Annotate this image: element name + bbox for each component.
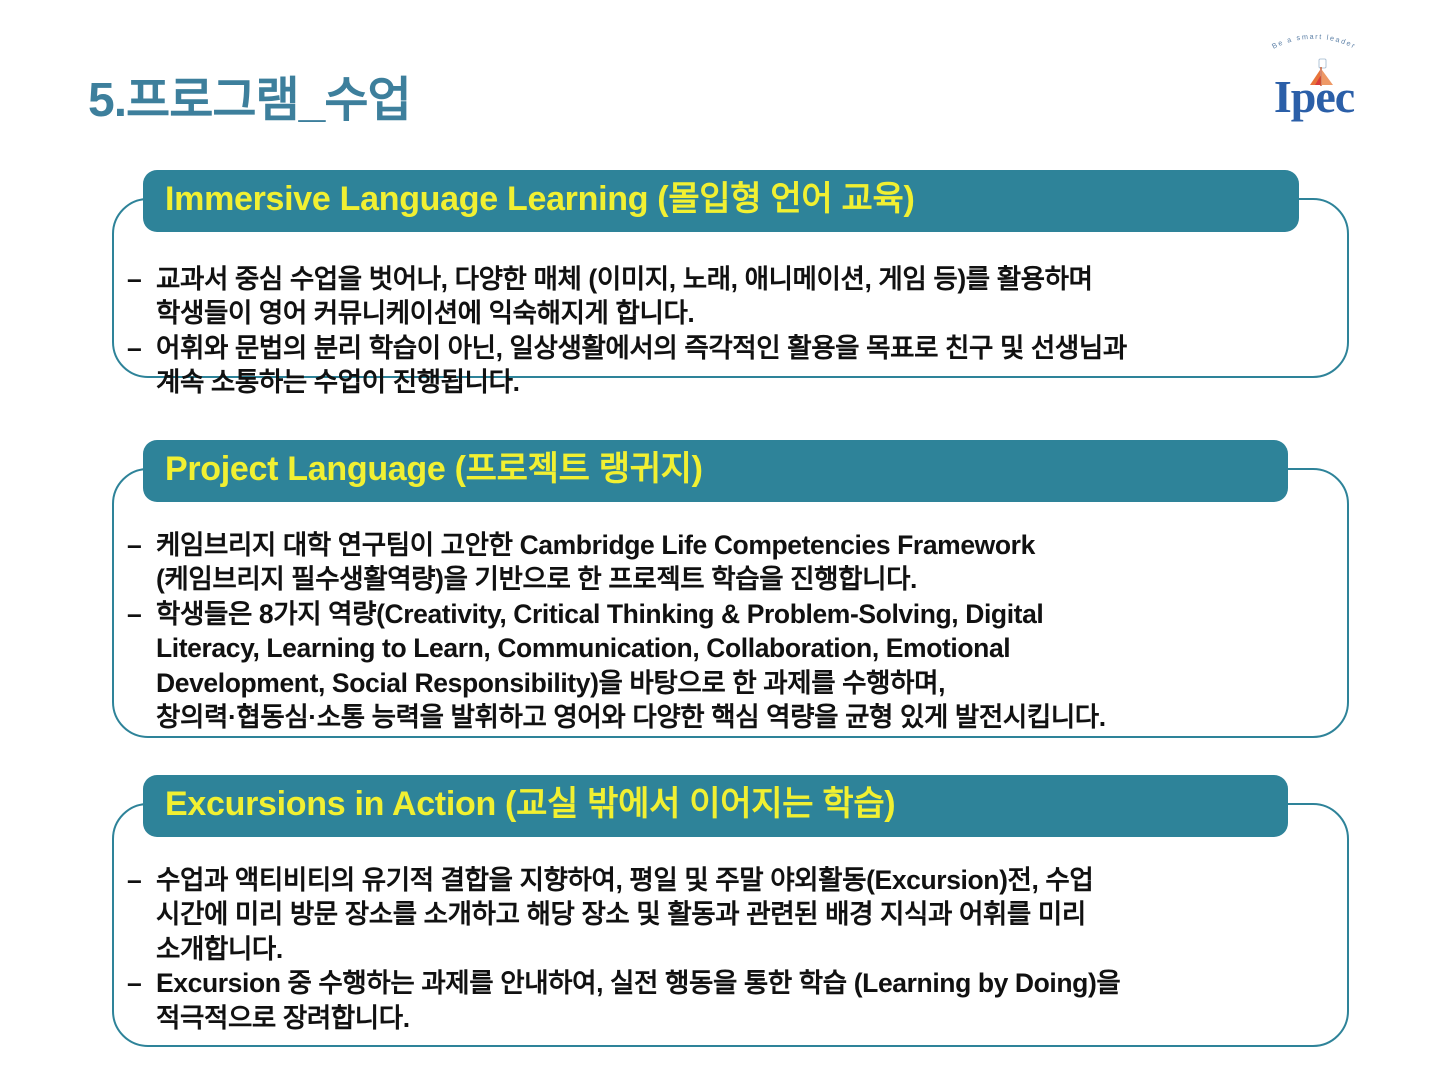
section-header-pill: Immersive Language Learning (몰입형 언어 교육): [143, 170, 1299, 232]
section-header-title: Immersive Language Learning (몰입형 언어 교육): [165, 180, 915, 219]
bullet-dash-icon: –: [114, 863, 156, 897]
list-item: – 학생들은 8가지 역량(Creativity, Critical Think…: [114, 597, 1321, 735]
bullet-dash-icon: –: [114, 262, 156, 296]
list-item: – 수업과 액티비티의 유기적 결합을 지향하여, 평일 및 주말 야외활동(E…: [114, 863, 1321, 966]
list-item: – Excursion 중 수행하는 과제를 안내하여, 실전 행동을 통한 학…: [114, 966, 1321, 1035]
section-header-pill: Project Language (프로젝트 랭귀지): [143, 440, 1288, 502]
page-title: 5.프로그램_수업: [88, 76, 411, 126]
bullet-text: 케임브리지 대학 연구팀이 고안한 Cambridge Life Compete…: [156, 528, 1321, 597]
section-body: – 수업과 액티비티의 유기적 결합을 지향하여, 평일 및 주말 야외활동(E…: [112, 803, 1349, 1047]
svg-text:Be a smart leader: Be a smart leader: [1270, 32, 1358, 51]
bullet-text: 교과서 중심 수업을 벗어나, 다양한 매체 (이미지, 노래, 애니메이션, …: [156, 262, 1321, 331]
bullet-text: Excursion 중 수행하는 과제를 안내하여, 실전 행동을 통한 학습 …: [156, 966, 1321, 1035]
logo-tagline: Be a smart leader: [1270, 32, 1358, 51]
bullet-list: – 케임브리지 대학 연구팀이 고안한 Cambridge Life Compe…: [114, 528, 1321, 735]
section-body: – 케임브리지 대학 연구팀이 고안한 Cambridge Life Compe…: [112, 468, 1349, 738]
bullet-dash-icon: –: [114, 528, 156, 562]
slide-canvas: 5.프로그램_수업 Be a smart leader Ipec – 교과서 중…: [0, 0, 1440, 1080]
bullet-text: 학생들은 8가지 역량(Creativity, Critical Thinkin…: [156, 597, 1321, 735]
bullet-dash-icon: –: [114, 331, 156, 365]
bullet-dash-icon: –: [114, 966, 156, 1000]
section-header-pill: Excursions in Action (교실 밖에서 이어지는 학습): [143, 775, 1288, 837]
list-item: – 교과서 중심 수업을 벗어나, 다양한 매체 (이미지, 노래, 애니메이션…: [114, 262, 1321, 331]
bullet-text: 수업과 액티비티의 유기적 결합을 지향하여, 평일 및 주말 야외활동(Exc…: [156, 863, 1321, 966]
section-header-title: Excursions in Action (교실 밖에서 이어지는 학습): [165, 785, 895, 824]
ipec-logo: Be a smart leader Ipec: [1250, 30, 1378, 126]
list-item: – 케임브리지 대학 연구팀이 고안한 Cambridge Life Compe…: [114, 528, 1321, 597]
section-header-title: Project Language (프로젝트 랭귀지): [165, 450, 703, 489]
bullet-dash-icon: –: [114, 597, 156, 631]
list-item: – 어휘와 문법의 분리 학습이 아닌, 일상생활에서의 즉각적인 활용을 목표…: [114, 331, 1321, 400]
bullet-list: – 수업과 액티비티의 유기적 결합을 지향하여, 평일 및 주말 야외활동(E…: [114, 863, 1321, 1035]
bullet-list: – 교과서 중심 수업을 벗어나, 다양한 매체 (이미지, 노래, 애니메이션…: [114, 262, 1321, 400]
bullet-text: 어휘와 문법의 분리 학습이 아닌, 일상생활에서의 즉각적인 활용을 목표로 …: [156, 331, 1321, 400]
logo-wordmark: Ipec: [1250, 74, 1378, 120]
